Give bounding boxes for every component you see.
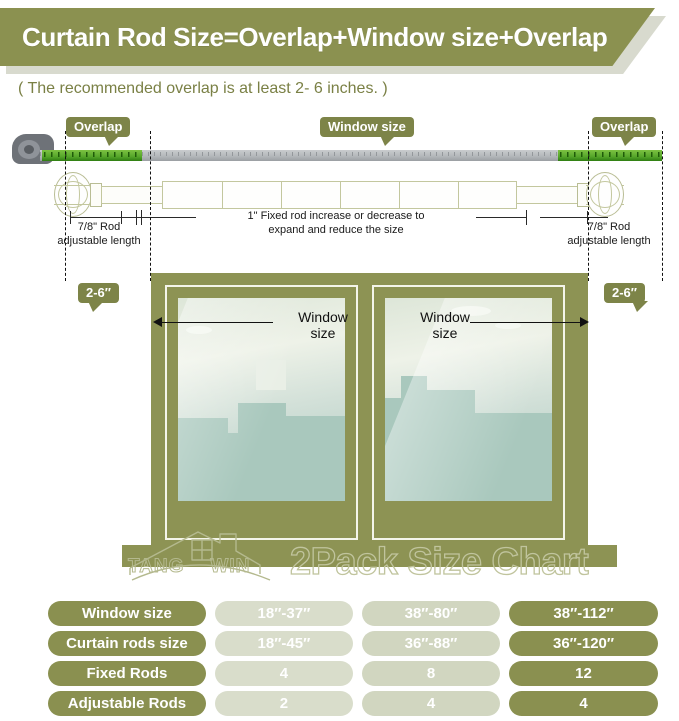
bubble-tail bbox=[620, 135, 636, 146]
arrow-head-right bbox=[580, 317, 589, 327]
table-cell: 18″-45″ bbox=[215, 631, 353, 656]
label-line-2: adjustable length bbox=[57, 235, 140, 247]
label-fixed-rod: 1" Fixed rod increase or decrease to exp… bbox=[196, 210, 476, 238]
tape-overlap-left-highlight bbox=[42, 150, 142, 161]
adjustable-rod-left bbox=[101, 186, 163, 204]
table-cell: 18″-37″ bbox=[215, 601, 353, 626]
label-line-1: Window bbox=[420, 309, 470, 325]
table-cell: 38″-80″ bbox=[362, 601, 500, 626]
badge-overlap-right-label: 2-6″ bbox=[612, 285, 637, 300]
measure-line-right bbox=[470, 322, 581, 323]
dim-tick bbox=[141, 210, 142, 225]
tape-measure-hub bbox=[24, 145, 34, 154]
label-line-1: 1" Fixed rod increase or decrease to bbox=[248, 210, 425, 222]
brand-logo: TANGWIN bbox=[120, 528, 295, 590]
page-subtitle: ( The recommended overlap is at least 2-… bbox=[18, 80, 388, 98]
bubble-tail bbox=[88, 301, 104, 312]
label-line-2: expand and reduce the size bbox=[268, 224, 403, 236]
bubble-overlap-left-label: Overlap bbox=[74, 119, 122, 134]
page-title: Curtain Rod Size=Overlap+Window size+Ove… bbox=[22, 22, 607, 53]
dim-rule-left-adjustable bbox=[70, 217, 138, 218]
finial-right-icon bbox=[586, 172, 624, 217]
brand-name-right: WIN bbox=[210, 556, 250, 577]
rod-diagram: Overlap Window size Overlap bbox=[0, 115, 679, 255]
bubble-tail bbox=[380, 135, 396, 146]
table-row: Adjustable Rods 2 4 4 bbox=[48, 691, 658, 716]
bubble-tail bbox=[104, 135, 120, 146]
brand-name: TANGWIN bbox=[128, 556, 250, 578]
badge-overlap-left-label: 2-6″ bbox=[86, 285, 111, 300]
table-cell: 36″-88″ bbox=[362, 631, 500, 656]
brand-name-left: TANG bbox=[128, 556, 184, 577]
adjustable-rod-right bbox=[516, 186, 578, 204]
banner-body: Curtain Rod Size=Overlap+Window size+Ove… bbox=[0, 8, 655, 66]
tape-overlap-right-highlight bbox=[558, 150, 662, 161]
size-chart-table: Window size 18″-37″ 38″-80″ 38″-112″ Cur… bbox=[48, 601, 658, 721]
table-row: Window size 18″-37″ 38″-80″ 38″-112″ bbox=[48, 601, 658, 626]
table-cell: 2 bbox=[215, 691, 353, 716]
row-label: Adjustable Rods bbox=[48, 691, 206, 716]
window-size-label-left: Window size bbox=[278, 309, 368, 341]
table-cell: 4 bbox=[509, 691, 658, 716]
label-line-2: size bbox=[433, 325, 458, 341]
badge-overlap-left: 2-6″ bbox=[78, 283, 119, 303]
dim-rule-right-adjustable bbox=[540, 217, 608, 218]
bubble-overlap-right: Overlap bbox=[592, 117, 656, 137]
label-line-1: 7/8" Rod bbox=[78, 221, 120, 233]
label-line-1: Window bbox=[298, 309, 348, 325]
table-cell: 36″-120″ bbox=[509, 631, 658, 656]
row-label: Window size bbox=[48, 601, 206, 626]
dim-tick bbox=[526, 210, 527, 225]
bubble-window-size-label: Window size bbox=[328, 119, 406, 134]
window-frame bbox=[151, 273, 588, 558]
table-row: Fixed Rods 4 8 12 bbox=[48, 661, 658, 686]
measure-line-left bbox=[161, 322, 273, 323]
table-cell: 4 bbox=[215, 661, 353, 686]
dim-tick bbox=[136, 210, 137, 225]
table-row: Curtain rods size 18″-45″ 36″-88″ 36″-12… bbox=[48, 631, 658, 656]
bubble-window-size: Window size bbox=[320, 117, 414, 137]
bubble-overlap-right-label: Overlap bbox=[600, 119, 648, 134]
size-chart-title: 2Pack Size Chart bbox=[290, 541, 588, 584]
label-right-adjustable: 7/8" Rod adjustable length bbox=[534, 221, 679, 249]
header-banner: Curtain Rod Size=Overlap+Window size+Ove… bbox=[0, 8, 679, 70]
table-cell: 38″-112″ bbox=[509, 601, 658, 626]
finial-left-bands bbox=[54, 185, 92, 205]
label-line-2: adjustable length bbox=[567, 235, 650, 247]
badge-overlap-right: 2-6″ bbox=[604, 283, 645, 303]
table-cell: 8 bbox=[362, 661, 500, 686]
row-label: Fixed Rods bbox=[48, 661, 206, 686]
row-label: Curtain rods size bbox=[48, 631, 206, 656]
label-line-1: 7/8" Rod bbox=[588, 221, 630, 233]
bubble-tail bbox=[632, 301, 648, 312]
table-cell: 12 bbox=[509, 661, 658, 686]
infographic-page: Curtain Rod Size=Overlap+Window size+Ove… bbox=[0, 0, 679, 716]
table-cell: 4 bbox=[362, 691, 500, 716]
label-left-adjustable: 7/8" Rod adjustable length bbox=[24, 221, 174, 249]
window-diagram: 2-6″ 2-6″ bbox=[0, 255, 679, 525]
window-size-label-right: Window size bbox=[400, 309, 490, 341]
label-line-2: size bbox=[311, 325, 336, 341]
bubble-overlap-left: Overlap bbox=[66, 117, 130, 137]
fixed-rod bbox=[162, 181, 517, 209]
